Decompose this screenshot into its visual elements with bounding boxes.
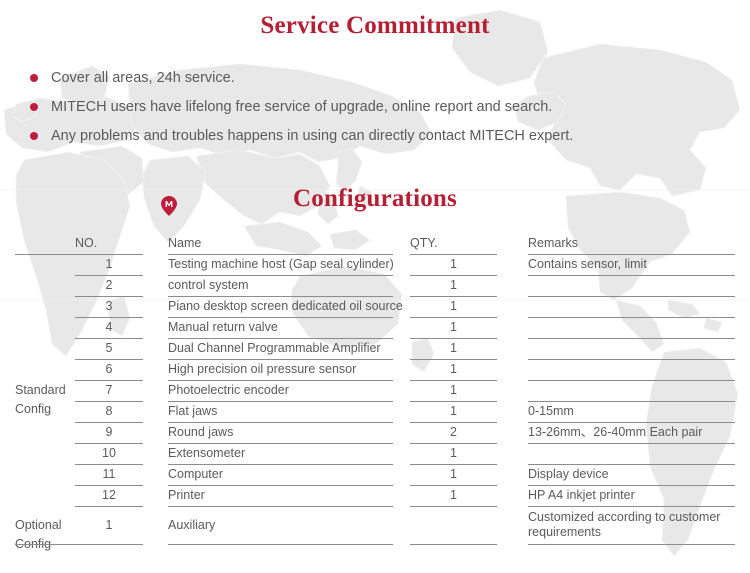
column-header-remarks: Remarks: [528, 236, 738, 251]
cell-remarks: Customized according to customer require…: [528, 510, 738, 540]
cell-qty: 1: [410, 467, 497, 481]
cell-qty: 1: [410, 488, 497, 502]
rule-remarks: [528, 544, 735, 545]
cell-name: Flat jaws: [168, 404, 396, 418]
cell-name: Computer: [168, 467, 396, 481]
rule-name: [168, 544, 393, 545]
cell-name: Testing machine host (Gap seal cylinder): [168, 257, 396, 271]
cell-remarks: 0-15mm: [528, 404, 738, 419]
cell-name: High precision oil pressure sensor: [168, 362, 396, 376]
cell-qty: 1: [410, 341, 497, 355]
service-commitment-list: Cover all areas, 24h service. MITECH use…: [30, 63, 730, 150]
cell-qty: 1: [410, 299, 497, 313]
cell-no: 11: [75, 467, 143, 481]
cell-no: 8: [75, 404, 143, 418]
list-item: MITECH users have lifelong free service …: [30, 92, 730, 121]
list-item-label: Any problems and troubles happens in usi…: [51, 128, 573, 144]
table-header-row: NO. Name QTY. Remarks: [0, 234, 750, 255]
rule-qty: [410, 544, 497, 545]
cell-name: Auxiliary: [168, 518, 396, 532]
bullet-dot-icon: [30, 103, 38, 111]
cell-qty: 1: [410, 383, 497, 397]
rule-no: [15, 544, 143, 545]
cell-remarks: Display device: [528, 467, 738, 482]
column-header-no: NO.: [75, 236, 143, 250]
cell-name: Photoelectric encoder: [168, 383, 396, 397]
cell-remarks: 13-26mm、26-40mm Each pair: [528, 425, 738, 440]
table-row: 7Photoelectric encoder1: [0, 381, 750, 402]
table-row: 1AuxiliaryCustomized according to custom…: [0, 507, 750, 545]
cell-name: Round jaws: [168, 425, 396, 439]
bullet-dot-icon: [30, 74, 38, 82]
configurations-heading: Configurations: [0, 185, 750, 213]
table-row: 12Printer1HP A4 inkjet printer: [0, 486, 750, 507]
cell-qty: 1: [410, 446, 497, 460]
list-item-label: MITECH users have lifelong free service …: [51, 99, 552, 115]
cell-name: Piano desktop screen dedicated oil sourc…: [168, 299, 396, 313]
table-row: 4Manual return valve1: [0, 318, 750, 339]
cell-no: 9: [75, 425, 143, 439]
table-row: 6High precision oil pressure sensor1: [0, 360, 750, 381]
cell-no: 10: [75, 446, 143, 460]
table-row: 2control system1: [0, 276, 750, 297]
cell-qty: 1: [410, 278, 497, 292]
column-header-qty: QTY.: [410, 236, 497, 250]
cell-no: 3: [75, 299, 143, 313]
table-row: 11Computer1Display device: [0, 465, 750, 486]
cell-qty: 1: [410, 404, 497, 418]
table-row: 1Testing machine host (Gap seal cylinder…: [0, 255, 750, 276]
cell-qty: 2: [410, 425, 497, 439]
cell-remarks: HP A4 inkjet printer: [528, 488, 738, 503]
cell-qty: 1: [410, 257, 497, 271]
cell-name: control system: [168, 278, 396, 292]
cell-remarks: Contains sensor, limit: [528, 257, 738, 272]
table-row: 8Flat jaws10-15mm: [0, 402, 750, 423]
table-row: 3Piano desktop screen dedicated oil sour…: [0, 297, 750, 318]
cell-name: Printer: [168, 488, 396, 502]
table-row: 9Round jaws213-26mm、26-40mm Each pair: [0, 423, 750, 444]
cell-no: 2: [75, 278, 143, 292]
bullet-dot-icon: [30, 132, 38, 140]
list-item: Any problems and troubles happens in usi…: [30, 121, 730, 150]
cell-qty: 1: [410, 320, 497, 334]
cell-qty: 1: [410, 362, 497, 376]
table-row: 10Extensometer1: [0, 444, 750, 465]
cell-name: Manual return valve: [168, 320, 396, 334]
configurations-table: Standard Config Optional Config NO. Name…: [0, 234, 750, 545]
service-commitment-heading: Service Commitment: [0, 12, 750, 40]
cell-no: 12: [75, 488, 143, 502]
cell-no: 5: [75, 341, 143, 355]
cell-no: 7: [75, 383, 143, 397]
cell-name: Dual Channel Programmable Amplifier: [168, 341, 396, 355]
table-row: 5Dual Channel Programmable Amplifier1: [0, 339, 750, 360]
list-item-label: Cover all areas, 24h service.: [51, 70, 235, 86]
cell-no: 1: [75, 257, 143, 271]
list-item: Cover all areas, 24h service.: [30, 63, 730, 92]
cell-name: Extensometer: [168, 446, 396, 460]
column-header-name: Name: [168, 236, 396, 250]
cell-no: 1: [75, 518, 143, 532]
cell-no: 6: [75, 362, 143, 376]
cell-no: 4: [75, 320, 143, 334]
